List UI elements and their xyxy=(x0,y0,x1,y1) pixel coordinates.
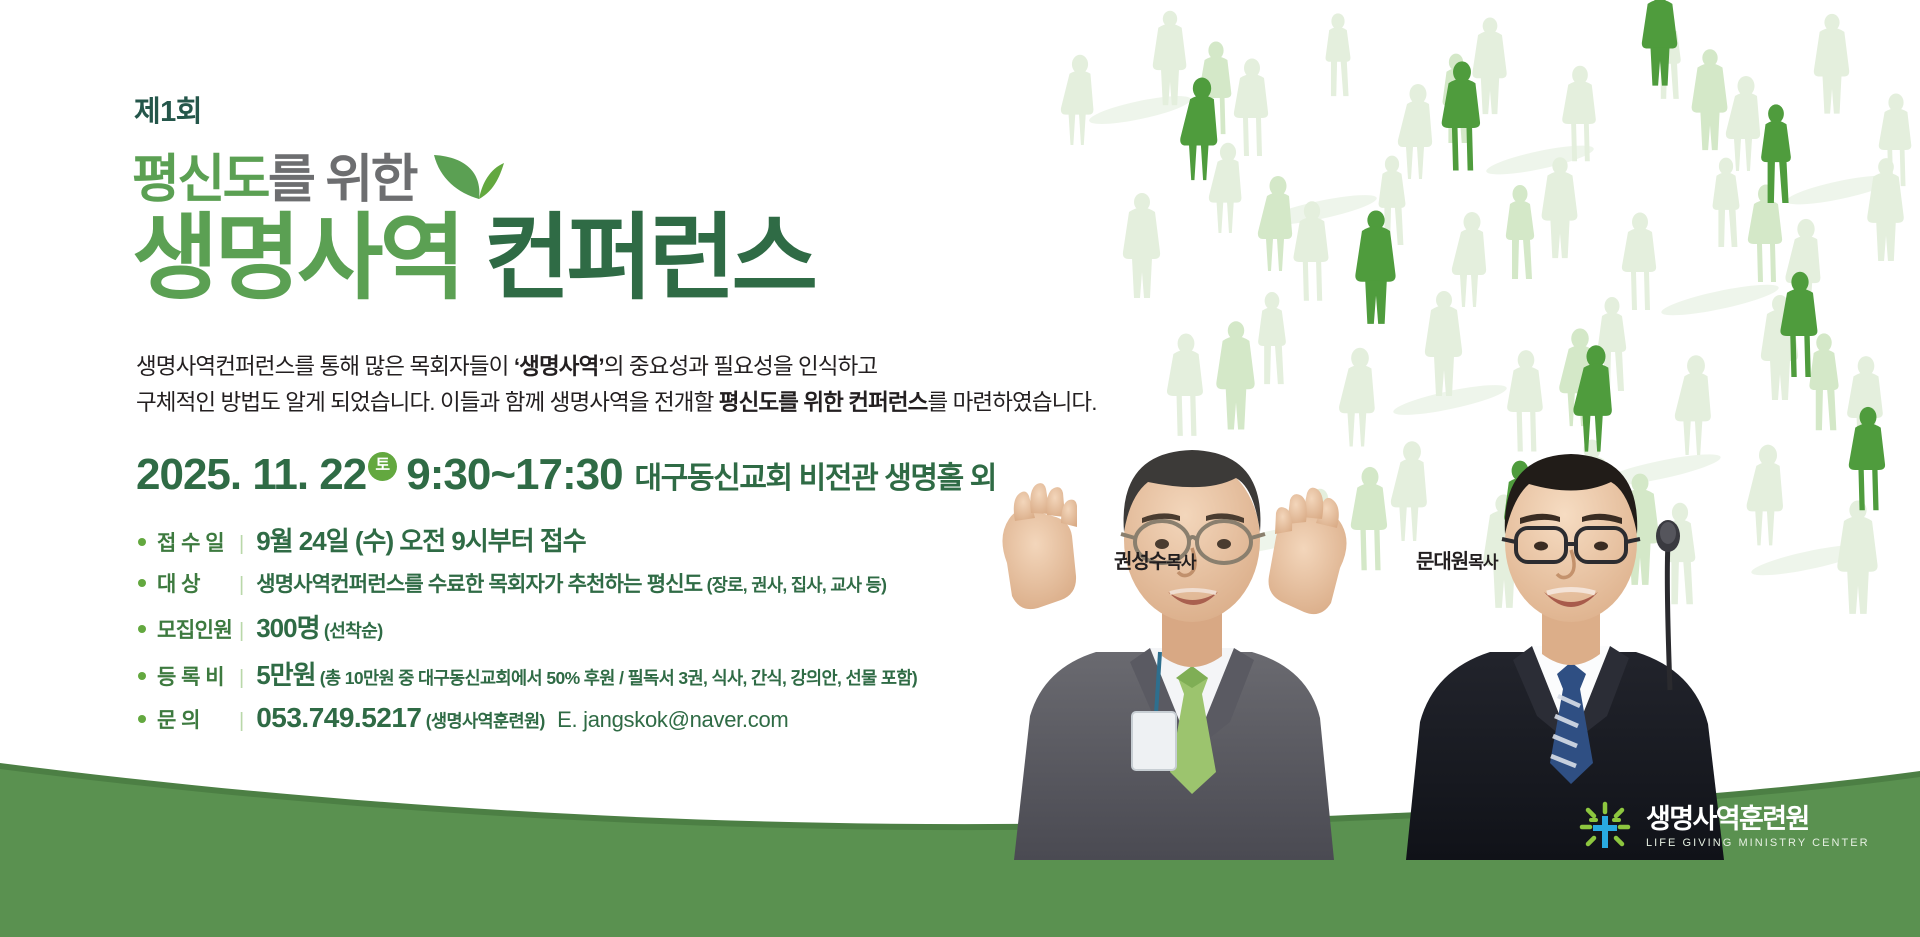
info-separator: | xyxy=(239,710,244,733)
contact-phone[interactable]: 053.749.5217 xyxy=(256,702,421,733)
info-value-note: (장로, 권사, 집사, 교사 등) xyxy=(702,575,886,595)
info-label: 대 상 xyxy=(157,568,239,598)
lead-line1-a: 생명사역컨퍼런스를 통해 많은 목회자들이 xyxy=(136,354,514,379)
info-row-contact: 문 의 | 053.749.5217 (생명사역훈련원) E. jangskok… xyxy=(138,702,1312,734)
speaker-photo-mun-daewon xyxy=(1370,400,1760,860)
event-venue: 대구동신교회 비전관 생명홀 외 xyxy=(635,464,996,494)
lead-line1-emphasis: ‘생명사역’ xyxy=(514,354,604,379)
logo-name-korean: 생명사역훈련원 xyxy=(1646,806,1870,833)
info-value: 053.749.5217 (생명사역훈련원) E. jangskok@naver… xyxy=(256,702,788,734)
info-label: 모집인원 xyxy=(157,614,239,644)
speaker-b-name: 문대원 xyxy=(1416,551,1468,573)
event-date: 2025. 11. 22 xyxy=(136,453,366,497)
bullet-dot-icon xyxy=(138,625,146,633)
info-value-note: (총 10만원 중 대구동신교회에서 50% 후원 / 필독서 3권, 식사, … xyxy=(316,668,918,688)
lead-line2-a: 구체적인 방법도 알게 되었습니다. 이들과 함께 생명사역을 전개할 xyxy=(136,390,719,415)
main-title-part-2: 컨퍼런스 xyxy=(484,205,814,310)
info-value-note: (생명사역훈련원) xyxy=(421,711,544,731)
info-separator: | xyxy=(239,533,244,556)
info-value-note: (선착순) xyxy=(320,621,383,641)
subtitle-row: 평신도를 위한 xyxy=(132,149,1312,207)
info-row-target-audience: 대 상 | 생명사역컨퍼런스를 수료한 목회자가 추천하는 평신도 (장로, 권… xyxy=(138,568,1312,598)
info-separator: | xyxy=(239,574,244,597)
subtitle-green-part: 평신도 xyxy=(132,151,268,209)
leaf-icon xyxy=(430,149,508,203)
speaker-name-mun-daewon: 문대원목사 xyxy=(1416,545,1497,574)
info-value: 300명 (선착순) xyxy=(256,608,382,645)
info-row-capacity: 모집인원 | 300명 (선착순) xyxy=(138,608,1312,645)
lead-paragraph: 생명사역컨퍼런스를 통해 많은 목회자들이 ‘생명사역’의 중요성과 필요성을 … xyxy=(136,349,1312,422)
info-value-text: 생명사역컨퍼런스를 수료한 목회자가 추천하는 평신도 xyxy=(256,573,702,596)
main-title-part-1: 생명사역 xyxy=(132,205,462,310)
lead-line1-c: 의 중요성과 필요성을 인식하고 xyxy=(604,354,877,379)
lead-line2-c: 를 마련하였습니다. xyxy=(927,390,1096,415)
info-value-text: 5만원 xyxy=(256,660,315,690)
main-title: 생명사역 컨퍼런스 xyxy=(132,211,1312,305)
info-value: 9월 24일 (수) 오전 9시부터 접수 xyxy=(256,521,585,558)
contact-email[interactable]: E. jangskok@naver.com xyxy=(557,707,788,732)
bullet-dot-icon xyxy=(138,672,146,680)
info-label: 등 록 비 xyxy=(157,661,239,691)
info-label: 접 수 일 xyxy=(157,527,239,557)
lead-line2-emphasis: 평신도를 위한 컨퍼런스 xyxy=(719,390,928,415)
info-value-text: 300명 xyxy=(256,613,319,643)
conference-poster: 권성수목사 문대원목사 제1회 평신도를 위한 생명사역 컨퍼런스 생명사역컨퍼… xyxy=(0,0,1920,937)
edition-kicker: 제1회 xyxy=(134,98,1312,127)
event-time: 9:30~17:30 xyxy=(406,453,622,497)
event-day-badge: 토 xyxy=(368,452,397,481)
logo-name-english: LIFE GIVING MINISTRY CENTER xyxy=(1646,838,1870,849)
info-list: 접 수 일 | 9월 24일 (수) 오전 9시부터 접수 대 상 | 생명사역… xyxy=(138,521,1312,734)
info-value: 5만원 (총 10만원 중 대구동신교회에서 50% 후원 / 필독서 3권, … xyxy=(256,655,917,692)
info-row-application-date: 접 수 일 | 9월 24일 (수) 오전 9시부터 접수 xyxy=(138,521,1312,558)
info-row-registration-fee: 등 록 비 | 5만원 (총 10만원 중 대구동신교회에서 50% 후원 / … xyxy=(138,655,1312,692)
info-separator: | xyxy=(239,620,244,643)
organization-logo: 생명사역훈련원 LIFE GIVING MINISTRY CENTER xyxy=(1578,800,1870,854)
info-value-text: 9월 24일 (수) 오전 9시부터 접수 xyxy=(256,526,585,556)
speaker-b-rank: 목사 xyxy=(1468,553,1497,572)
event-dateline: 2025. 11. 22 토 9:30~17:30 대구동신교회 비전관 생명홀… xyxy=(136,452,1312,497)
bullet-dot-icon xyxy=(138,715,146,723)
cross-burst-icon xyxy=(1578,800,1632,854)
info-value: 생명사역컨퍼런스를 수료한 목회자가 추천하는 평신도 (장로, 권사, 집사,… xyxy=(256,568,886,598)
logo-text: 생명사역훈련원 LIFE GIVING MINISTRY CENTER xyxy=(1646,806,1870,849)
bullet-dot-icon xyxy=(138,538,146,546)
bullet-dot-icon xyxy=(138,579,146,587)
subtitle-gray-part: 를 위한 xyxy=(268,151,416,209)
poster-content: 제1회 평신도를 위한 생명사역 컨퍼런스 생명사역컨퍼런스를 통해 많은 목회… xyxy=(132,98,1312,744)
info-label: 문 의 xyxy=(157,704,239,734)
info-separator: | xyxy=(239,667,244,690)
subtitle: 평신도를 위한 xyxy=(132,154,416,207)
